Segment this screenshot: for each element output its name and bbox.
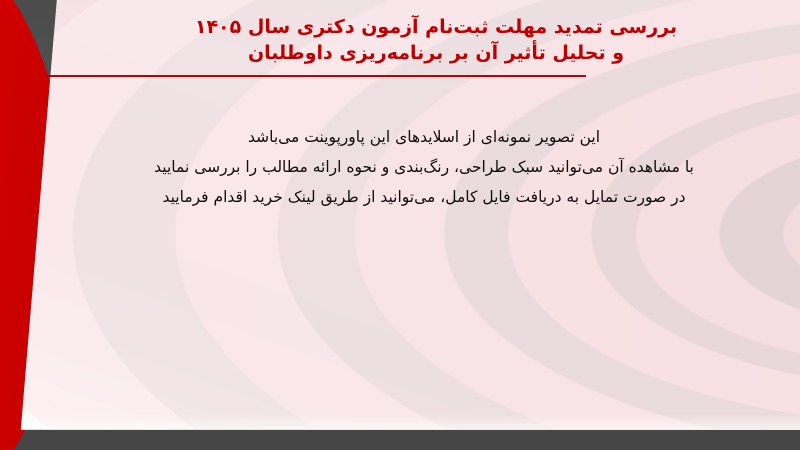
slide-title-line-1: بررسی تمدید مهلت ثبت‌نام آزمون دکتری سال… [90,14,782,40]
presentation-slide: بررسی تمدید مهلت ثبت‌نام آزمون دکتری سال… [0,0,800,450]
title-underline [43,75,586,77]
slide-title-line-2: و تحلیل تأثیر آن بر برنامه‌ریزی داوطلبان [90,40,782,66]
panel-background [0,0,800,450]
slide-title: بررسی تمدید مهلت ثبت‌نام آزمون دکتری سال… [90,14,782,66]
slide-body: این تصویر نمونه‌ای از اسلایدهای این پاور… [70,122,778,212]
body-line-1: این تصویر نمونه‌ای از اسلایدهای این پاور… [70,122,778,152]
body-line-3: در صورت تمایل به دریافت فایل کامل، می‌تو… [70,182,778,212]
body-line-2: با مشاهده آن می‌توانید سبک طراحی، رنگ‌بن… [70,152,778,182]
slide-content-panel [0,0,800,450]
